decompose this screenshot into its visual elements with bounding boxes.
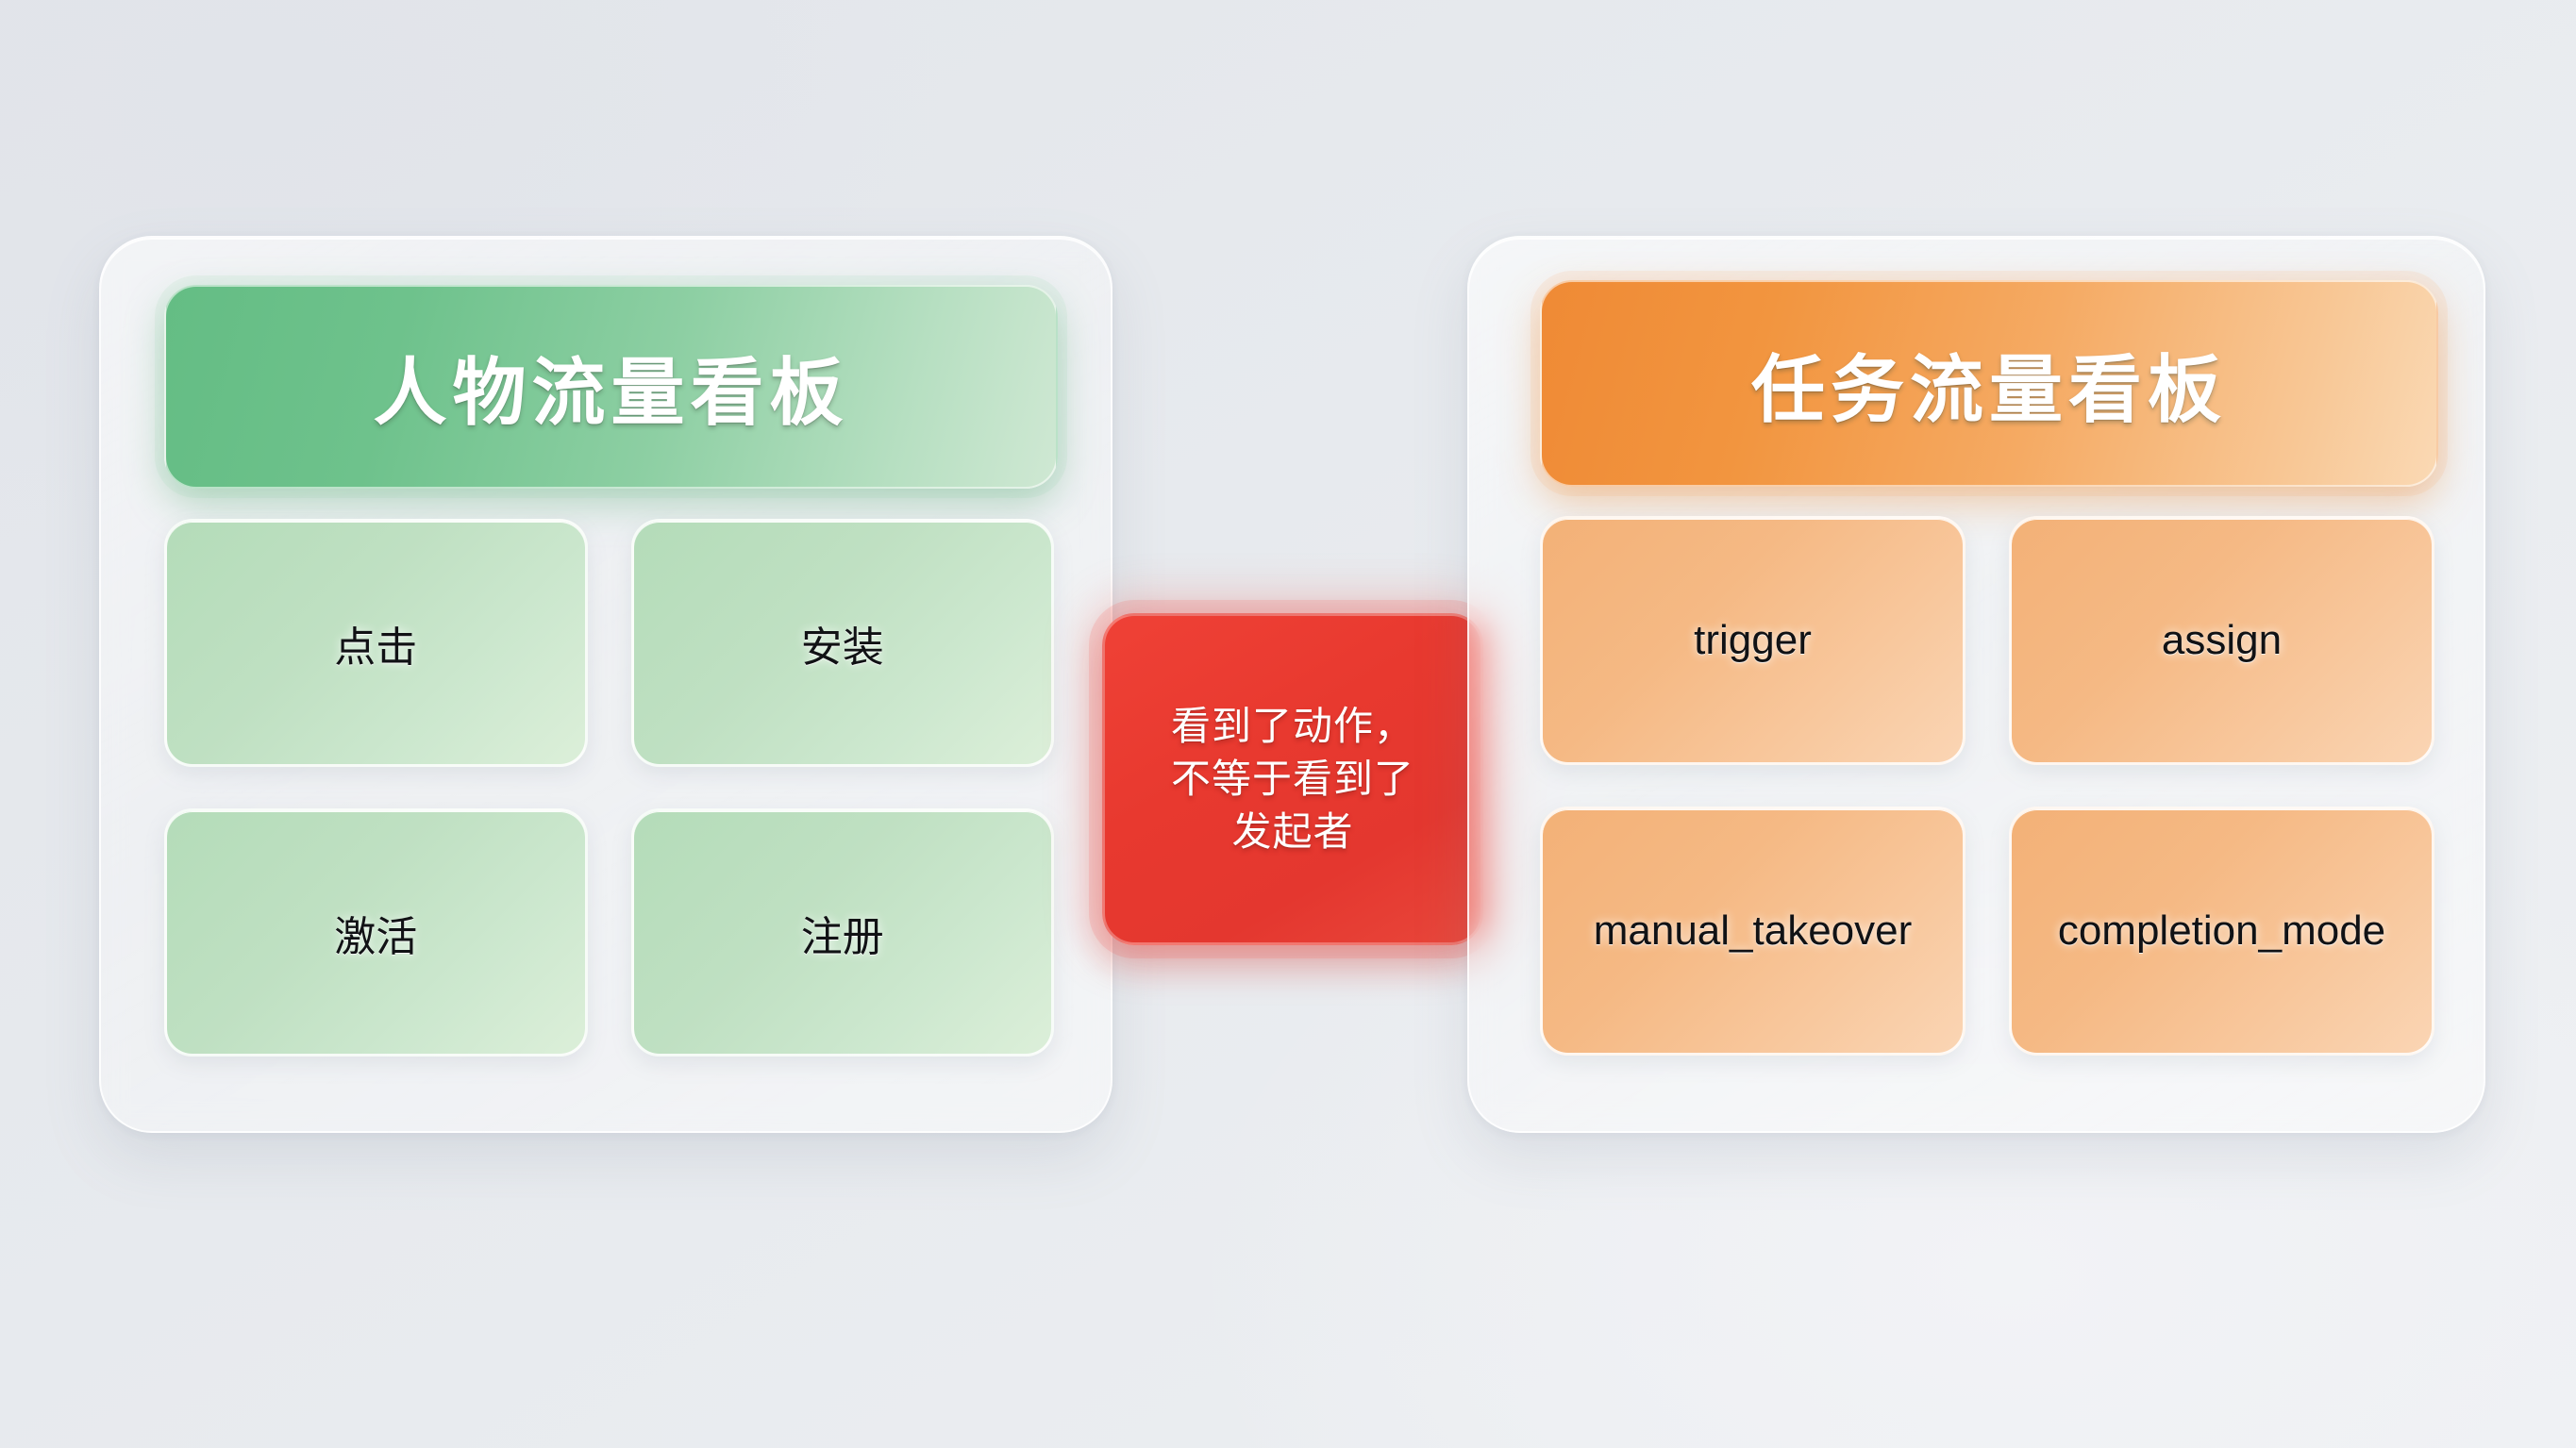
metric-cell-assign[interactable]: assign	[2009, 516, 2434, 765]
task-traffic-board-header: 任务流量看板	[1540, 280, 2438, 487]
metric-cell-trigger[interactable]: trigger	[1540, 516, 1965, 765]
metric-cell-label: completion_mode	[2058, 907, 2385, 955]
task-traffic-board-cell-grid: trigger assign manual_takeover completio…	[1540, 516, 2434, 1056]
metric-cell-label: 安装	[801, 613, 884, 674]
person-traffic-board-panel: 人物流量看板 点击 安装 激活 注册	[99, 236, 1112, 1133]
metric-cell-completion-mode[interactable]: completion_mode	[2009, 807, 2434, 1056]
callout-line: 不等于看到了	[1171, 753, 1414, 806]
metric-cell-label: assign	[2162, 617, 2282, 664]
metric-cell-label: manual_takeover	[1594, 907, 1913, 955]
metric-cell-label: 注册	[801, 903, 884, 963]
metric-cell-activate[interactable]: 激活	[164, 808, 588, 1057]
callout-badge: 看到了动作， 不等于看到了 发起者	[1102, 613, 1483, 945]
metric-cell-click[interactable]: 点击	[164, 519, 588, 767]
person-traffic-board-title: 人物流量看板	[373, 334, 848, 440]
diagram-canvas: 人物流量看板 点击 安装 激活 注册 看到了动作， 不等于看到了 发起者	[0, 0, 2576, 1448]
task-traffic-board-panel: 任务流量看板 trigger assign manual_takeover co…	[1467, 236, 2485, 1133]
metric-cell-label: trigger	[1694, 617, 1812, 664]
person-traffic-board-header: 人物流量看板	[164, 285, 1058, 489]
callout-text: 看到了动作， 不等于看到了 发起者	[1171, 700, 1414, 859]
callout-line: 看到了动作，	[1171, 700, 1414, 753]
metric-cell-label: 点击	[334, 613, 417, 674]
metric-cell-label: 激活	[334, 903, 417, 963]
callout-line: 发起者	[1171, 806, 1414, 858]
task-traffic-board-title: 任务流量看板	[1751, 331, 2227, 437]
metric-cell-register[interactable]: 注册	[631, 808, 1055, 1057]
person-traffic-board-cell-grid: 点击 安装 激活 注册	[164, 519, 1054, 1057]
metric-cell-manual-takeover[interactable]: manual_takeover	[1540, 807, 1965, 1056]
metric-cell-install[interactable]: 安装	[631, 519, 1055, 767]
